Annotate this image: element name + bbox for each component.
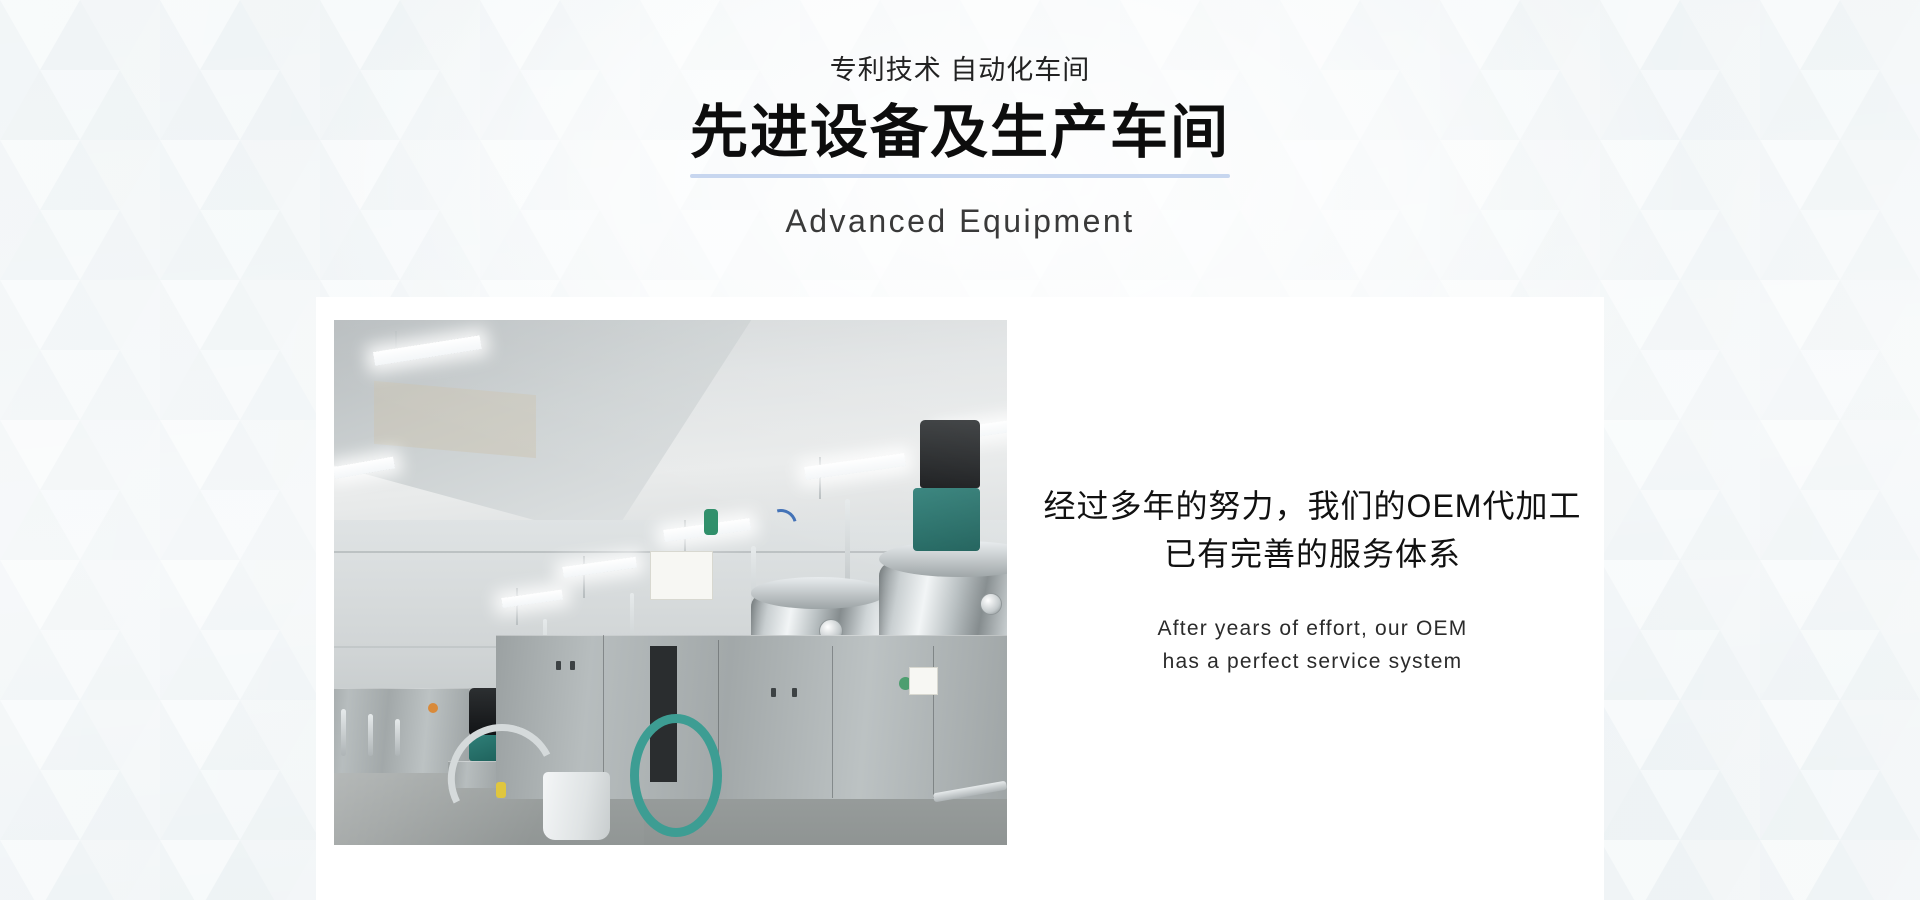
copy-block: 经过多年的努力，我们的OEM代加工已有完善的服务体系 After years o… xyxy=(1021,297,1604,900)
teal-hose-coil xyxy=(630,714,722,837)
page-root: 专利技术 自动化车间 先进设备及生产车间 Advanced Equipment xyxy=(0,0,1920,900)
header-eyebrow: 专利技术 自动化车间 xyxy=(0,56,1920,86)
hanging-sign xyxy=(650,551,713,600)
copy-english-line2: has a perfect service system xyxy=(1163,650,1463,673)
bench-pipe xyxy=(341,709,346,756)
bench-cabinet xyxy=(334,688,469,773)
cabinet-hinge xyxy=(771,688,776,697)
pressure-gauge xyxy=(980,593,1002,615)
green-bottle xyxy=(704,509,718,535)
copy-chinese: 经过多年的努力，我们的OEM代加工已有完善的服务体系 xyxy=(1043,483,1583,578)
copy-english: After years of effort, our OEM has a per… xyxy=(1158,612,1468,678)
photo-scene xyxy=(334,320,1007,845)
lamp-rod xyxy=(516,588,518,625)
tank-lid xyxy=(751,577,886,609)
cabinet-seam xyxy=(832,646,833,798)
white-bucket xyxy=(543,772,610,840)
bench-pipe xyxy=(395,719,400,756)
agitator-motor xyxy=(920,420,981,488)
page-title: 先进设备及生产车间 xyxy=(690,102,1230,165)
agitator-gearbox xyxy=(913,488,980,551)
lamp-rod xyxy=(583,556,585,598)
title-underline-rule xyxy=(690,174,1230,178)
cabinet-hinge xyxy=(570,661,575,670)
content-card: 经过多年的努力，我们的OEM代加工已有完善的服务体系 After years o… xyxy=(316,297,1604,900)
banner-header: 专利技术 自动化车间 先进设备及生产车间 Advanced Equipment xyxy=(0,0,1920,240)
cabinet-hinge xyxy=(556,661,561,670)
yellow-tag xyxy=(496,782,506,798)
header-subtitle: Advanced Equipment xyxy=(0,204,1920,239)
header-title-wrap: 先进设备及生产车间 xyxy=(690,102,1230,191)
copy-english-line1: After years of effort, our OEM xyxy=(1158,617,1468,640)
factory-photo xyxy=(334,320,1007,845)
bench-pipe xyxy=(368,714,373,756)
cabinet-hinge xyxy=(792,688,797,697)
cabinet-label xyxy=(909,667,938,695)
